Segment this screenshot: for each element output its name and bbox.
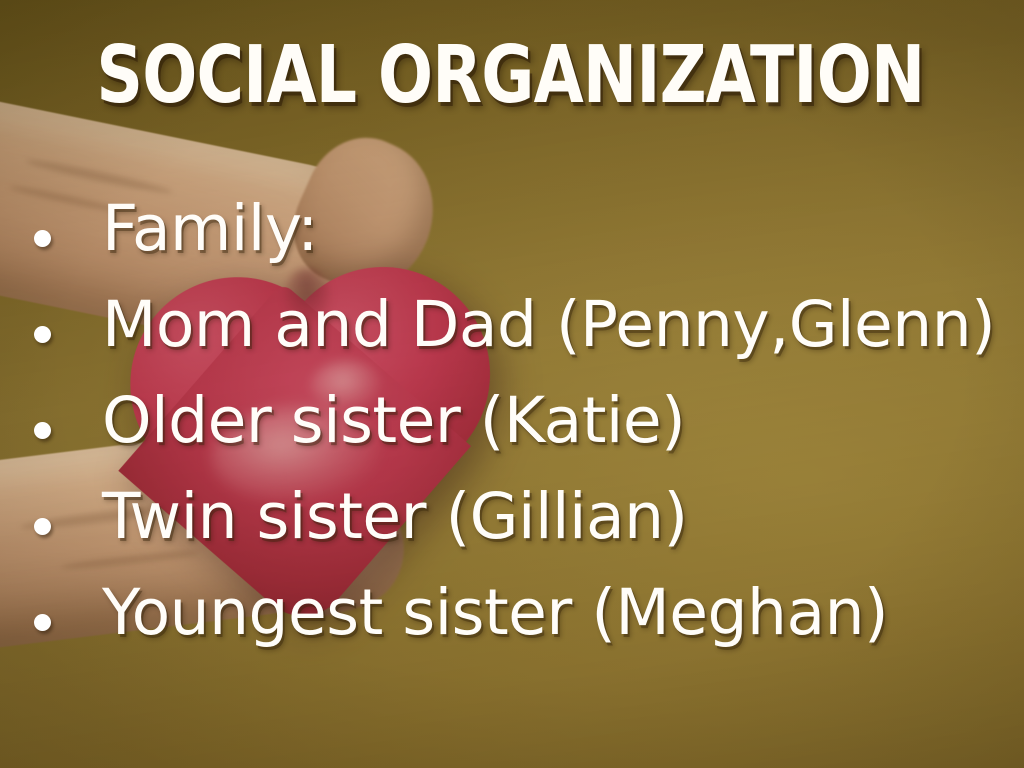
bullet-text: Twin sister (Gillian) [102,484,688,550]
slide-title: SOCIAL ORGANIZATION [92,36,932,115]
presentation-slide: SOCIAL ORGANIZATION Family: Mom and Dad … [0,0,1024,768]
bullet-point-icon [34,326,51,343]
list-item: Older sister (Katie) [34,388,994,484]
bullet-point-icon [34,614,51,631]
bullet-point-icon [34,422,51,439]
list-item: Family: [34,196,994,292]
list-item: Twin sister (Gillian) [34,484,994,580]
slide-bullet-list: Family: Mom and Dad (Penny,Glenn) Older … [34,196,994,676]
bullet-text: Youngest sister (Meghan) [102,580,888,646]
bullet-text: Family: [102,196,318,262]
list-item: Mom and Dad (Penny,Glenn) [34,292,994,388]
bullet-point-icon [34,518,51,535]
list-item: Youngest sister (Meghan) [34,580,994,676]
bullet-point-icon [34,230,51,247]
bullet-text: Older sister (Katie) [102,388,685,454]
bullet-text: Mom and Dad (Penny,Glenn) [102,292,995,358]
